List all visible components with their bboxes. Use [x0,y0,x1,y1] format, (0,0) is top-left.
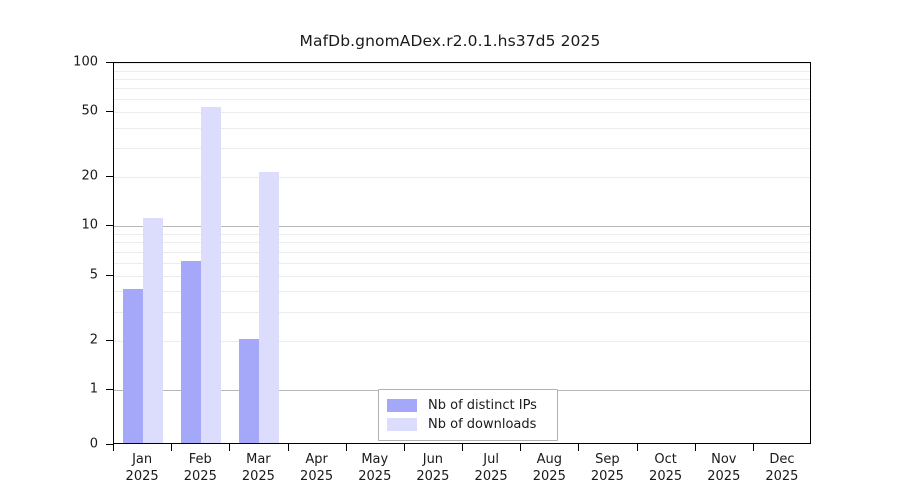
y-axis-tick-label: 100 [38,55,98,70]
x-axis-tick-label: Dec2025 [742,452,822,485]
y-axis-tick-mark [106,389,113,390]
x-axis-tick-mark [288,444,289,451]
x-tick-year: 2025 [742,469,822,486]
y-axis-tick-mark [106,225,113,226]
bar-downloads [259,172,279,443]
bars-layer [114,63,810,443]
x-axis-tick-mark [578,444,579,451]
bar-downloads [143,218,163,444]
x-axis-tick-mark [462,444,463,451]
legend-item-downloads: Nb of downloads [387,415,548,434]
plot-area [113,62,811,444]
legend-swatch-distinct-ips [387,399,417,412]
y-axis-tick-label: 5 [38,267,98,282]
chart-figure: MafDb.gnomADex.r2.0.1.hs37d5 2025 Nb of … [0,0,900,500]
x-axis-tick-mark [404,444,405,451]
y-axis-tick-mark [106,62,113,63]
y-axis-tick-label: 50 [38,104,98,119]
y-axis-tick-mark [106,444,113,445]
bar-downloads [201,107,221,443]
y-axis-tick-label: 10 [38,218,98,233]
chart-legend: Nb of distinct IPs Nb of downloads [378,389,558,441]
y-axis-tick-mark [106,275,113,276]
bar-distinct-ips [181,261,201,444]
x-axis-tick-mark [695,444,696,451]
x-axis-tick-mark [113,444,114,451]
y-axis-tick-mark [106,176,113,177]
y-axis-tick-label: 2 [38,332,98,347]
y-axis-tick-mark [106,111,113,112]
bar-distinct-ips [123,289,143,443]
x-axis-tick-mark [171,444,172,451]
x-axis-tick-mark [229,444,230,451]
x-axis-tick-mark [753,444,754,451]
x-axis-tick-mark [520,444,521,451]
y-axis-tick-mark [106,340,113,341]
x-tick-month: Dec [742,452,822,469]
legend-label-distinct-ips: Nb of distinct IPs [428,398,537,413]
x-axis-tick-mark [346,444,347,451]
legend-swatch-downloads [387,418,417,431]
chart-title: MafDb.gnomADex.r2.0.1.hs37d5 2025 [0,32,900,50]
x-axis-tick-mark [637,444,638,451]
y-axis-tick-label: 1 [38,381,98,396]
legend-label-downloads: Nb of downloads [428,417,536,432]
bar-distinct-ips [239,339,259,444]
y-axis-tick-label: 0 [38,437,98,452]
y-axis-tick-label: 20 [38,169,98,184]
legend-item-distinct-ips: Nb of distinct IPs [387,396,548,415]
